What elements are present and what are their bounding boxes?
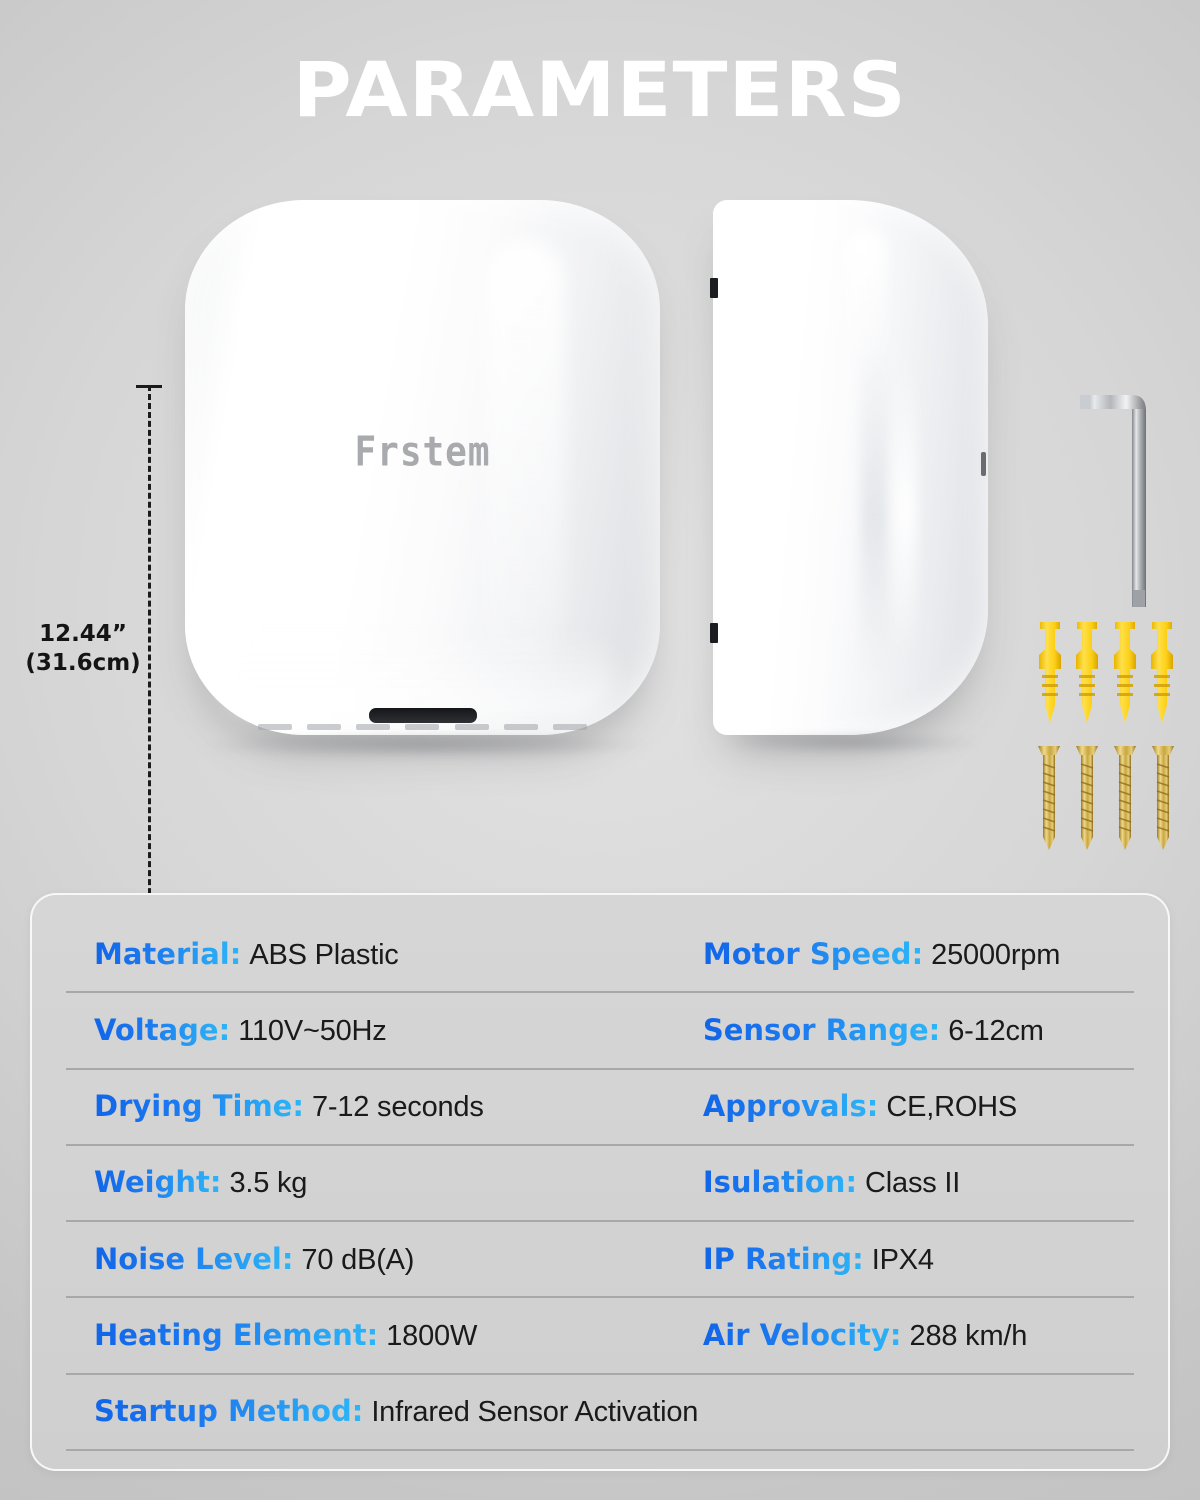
screw-icon <box>1112 742 1138 854</box>
spec-item-motor-speed: Motor Speed: 25000rpm <box>675 937 1134 972</box>
spec-label: Voltage: <box>94 1013 230 1047</box>
height-dimension-line <box>148 385 151 930</box>
side-gloss-edge <box>893 360 917 660</box>
spec-label: Material: <box>94 937 241 971</box>
side-edge-detail <box>981 452 986 476</box>
spec-item-noise-level: Noise Level: 70 dB(A) <box>66 1242 675 1277</box>
spec-item-startup-method: Startup Method: Infrared Sensor Activati… <box>66 1394 1134 1429</box>
side-view-shadow <box>730 732 980 754</box>
height-inches: 12.44” <box>22 620 144 649</box>
spec-row: Voltage: 110V~50Hz Sensor Range: 6-12cm <box>66 993 1134 1069</box>
front-view-shadow <box>205 732 645 758</box>
spec-label: Motor Speed: <box>703 937 923 971</box>
wall-anchor-icon <box>1073 620 1101 725</box>
spec-row: Drying Time: 7-12 seconds Approvals: CE,… <box>66 1070 1134 1146</box>
spec-value: 3.5 kg <box>229 1167 307 1200</box>
spec-value: Infrared Sensor Activation <box>371 1396 698 1429</box>
spec-row: Weight: 3.5 kg Isulation: Class II <box>66 1146 1134 1222</box>
spec-value: ABS Plastic <box>249 939 398 972</box>
spec-item-isulation: Isulation: Class II <box>675 1165 1134 1200</box>
spec-value: 1800W <box>386 1320 477 1353</box>
spec-label: Approvals: <box>703 1089 878 1123</box>
screw-icon <box>1036 742 1062 854</box>
hand-dryer-front-view: Frstem <box>185 200 660 735</box>
hex-key-icon <box>1040 385 1170 620</box>
wall-anchor-icon <box>1036 620 1064 725</box>
spec-value: 70 dB(A) <box>301 1244 414 1277</box>
air-outlet-nozzle-icon <box>369 708 477 723</box>
vent-slits-icon <box>258 724 588 732</box>
gloss-highlight-bottom <box>215 629 615 719</box>
hand-dryer-side-view <box>713 200 988 735</box>
spec-value: 25000rpm <box>931 939 1060 972</box>
spec-label: Weight: <box>94 1165 221 1199</box>
spec-row: Material: ABS Plastic Motor Speed: 25000… <box>66 917 1134 993</box>
screw-icon <box>1150 742 1176 854</box>
spec-value: 6-12cm <box>948 1015 1044 1048</box>
spec-row: Noise Level: 70 dB(A) IP Rating: IPX4 <box>66 1222 1134 1298</box>
spec-label: Startup Method: <box>94 1394 363 1428</box>
spec-label: Air Velocity: <box>703 1318 902 1352</box>
spec-label: Drying Time: <box>94 1089 304 1123</box>
spec-row: Startup Method: Infrared Sensor Activati… <box>66 1375 1134 1451</box>
spec-item-drying-time: Drying Time: 7-12 seconds <box>66 1089 675 1124</box>
spec-value: IPX4 <box>872 1244 934 1277</box>
page-title-container: PARAMETERS <box>0 52 1200 128</box>
screw-icon <box>1074 742 1100 854</box>
screws-group <box>1036 742 1176 862</box>
height-dimension-cap-top <box>136 385 162 388</box>
page-title: PARAMETERS <box>293 52 907 128</box>
specifications-rows: Material: ABS Plastic Motor Speed: 25000… <box>66 917 1134 1451</box>
height-dimension-label: 12.44” (31.6cm) <box>22 620 144 679</box>
spec-value: 7-12 seconds <box>312 1091 484 1124</box>
specifications-panel: Material: ABS Plastic Motor Speed: 25000… <box>30 893 1170 1471</box>
spec-value: Class II <box>865 1167 960 1200</box>
spec-label: IP Rating: <box>703 1242 864 1276</box>
spec-item-weight: Weight: 3.5 kg <box>66 1165 675 1200</box>
wall-anchors-group <box>1036 620 1176 730</box>
mounting-tab-bottom <box>710 623 718 643</box>
spec-item-air-velocity: Air Velocity: 288 km/h <box>675 1318 1134 1353</box>
spec-value: 110V~50Hz <box>238 1015 386 1048</box>
spec-label: Isulation: <box>703 1165 857 1199</box>
spec-label: Noise Level: <box>94 1242 293 1276</box>
spec-item-ip-rating: IP Rating: IPX4 <box>675 1242 1134 1277</box>
spec-item-heating-element: Heating Element: 1800W <box>66 1318 675 1353</box>
brand-logo: Frstem <box>185 429 660 476</box>
spec-row: Heating Element: 1800W Air Velocity: 288… <box>66 1298 1134 1374</box>
spec-item-voltage: Voltage: 110V~50Hz <box>66 1013 675 1048</box>
spec-item-material: Material: ABS Plastic <box>66 937 675 972</box>
height-metric: (31.6cm) <box>22 649 144 678</box>
spec-label: Sensor Range: <box>703 1013 940 1047</box>
accessories-group <box>1020 180 1190 880</box>
side-gloss-mid <box>861 350 887 680</box>
spec-value: CE,ROHS <box>886 1091 1017 1124</box>
mounting-tab-top <box>710 278 718 298</box>
spec-label: Heating Element: <box>94 1318 378 1352</box>
spec-item-sensor-range: Sensor Range: 6-12cm <box>675 1013 1134 1048</box>
spec-item-approvals: Approvals: CE,ROHS <box>675 1089 1134 1124</box>
wall-anchor-icon <box>1148 620 1176 725</box>
wall-anchor-icon <box>1111 620 1139 725</box>
product-stage: 12.44” (31.6cm) Frstem <box>0 180 1200 880</box>
spec-value: 288 km/h <box>910 1320 1028 1353</box>
